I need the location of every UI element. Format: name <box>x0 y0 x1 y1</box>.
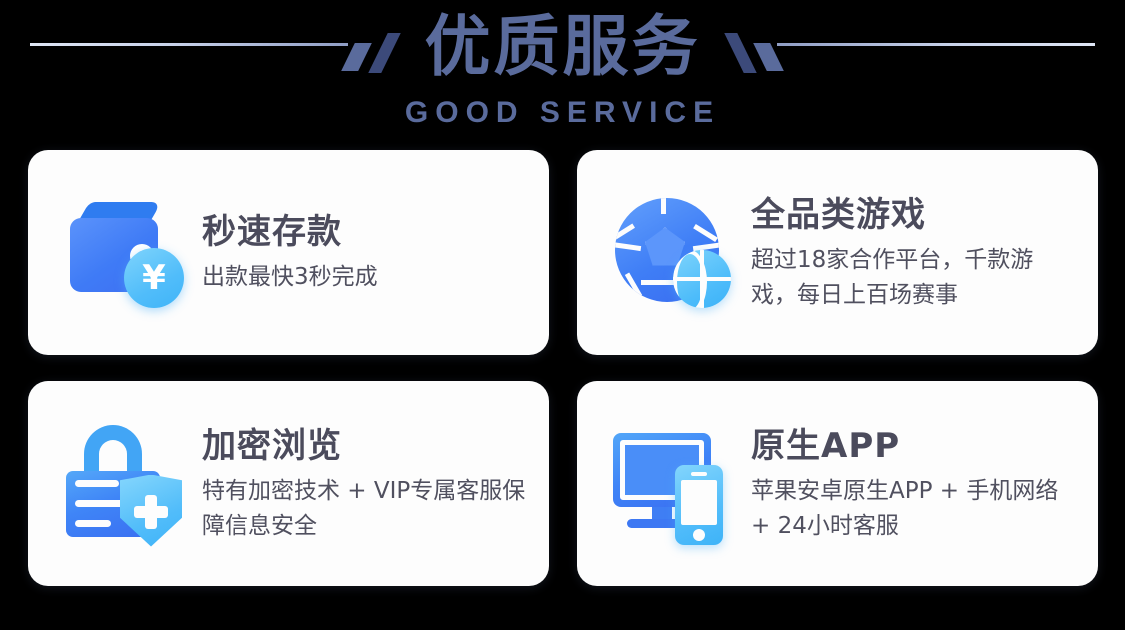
page-subtitle: GOOD SERVICE <box>0 96 1125 130</box>
lock-shield-icon <box>62 419 186 549</box>
card-title: 全品类游戏 <box>751 193 1076 237</box>
phone-home-button <box>693 529 705 541</box>
phone-screen <box>681 480 717 525</box>
yen-coin-icon: ¥ <box>124 248 184 308</box>
card-title: 原生APP <box>751 424 1076 468</box>
lock-slot <box>75 500 127 507</box>
card-title: 加密浏览 <box>202 424 527 468</box>
lock-slot <box>75 520 111 527</box>
phone-speaker <box>691 472 707 476</box>
card-title: 秒速存款 <box>202 210 527 254</box>
card-description: 特有加密技术 + VIP专属客服保障信息安全 <box>202 474 527 544</box>
soccer-seam <box>615 223 635 240</box>
service-card-native-app[interactable]: 原生APP 苹果安卓原生APP + 手机网络 + 24小时客服 <box>577 381 1098 586</box>
soccer-seam <box>693 223 718 241</box>
service-card-deposit[interactable]: ¥ 秒速存款 出款最快3秒完成 <box>28 150 549 355</box>
card-description: 超过18家合作平台，千款游戏，每日上百场赛事 <box>751 243 1076 313</box>
soccer-seam <box>625 272 642 297</box>
card-text-block: 原生APP 苹果安卓原生APP + 手机网络 + 24小时客服 <box>751 424 1076 544</box>
basketball-icon <box>673 250 731 308</box>
service-card-encryption[interactable]: 加密浏览 特有加密技术 + VIP专属客服保障信息安全 <box>28 381 549 586</box>
card-text-block: 加密浏览 特有加密技术 + VIP专属客服保障信息安全 <box>202 424 527 544</box>
basketball-seam <box>673 277 731 281</box>
card-description: 出款最快3秒完成 <box>202 260 527 295</box>
card-text-block: 全品类游戏 超过18家合作平台，千款游戏，每日上百场赛事 <box>751 193 1076 313</box>
soccer-basketball-icon <box>611 188 735 318</box>
header-rule-right <box>777 43 1095 46</box>
soccer-seam <box>661 198 666 214</box>
page-title: 优质服务 <box>0 6 1125 88</box>
plus-icon <box>134 506 168 518</box>
monitor-phone-icon <box>611 419 735 549</box>
service-card-grid: ¥ 秒速存款 出款最快3秒完成 <box>28 150 1098 586</box>
service-card-games[interactable]: 全品类游戏 超过18家合作平台，千款游戏，每日上百场赛事 <box>577 150 1098 355</box>
soccer-seam <box>615 241 641 250</box>
card-text-block: 秒速存款 出款最快3秒完成 <box>202 210 527 295</box>
mobile-phone-icon <box>675 465 723 545</box>
wallet-yen-icon: ¥ <box>62 188 186 318</box>
card-description: 苹果安卓原生APP + 手机网络 + 24小时客服 <box>751 474 1076 544</box>
lock-slot <box>75 480 119 487</box>
page-header: 优质服务 GOOD SERVICE <box>0 0 1125 142</box>
